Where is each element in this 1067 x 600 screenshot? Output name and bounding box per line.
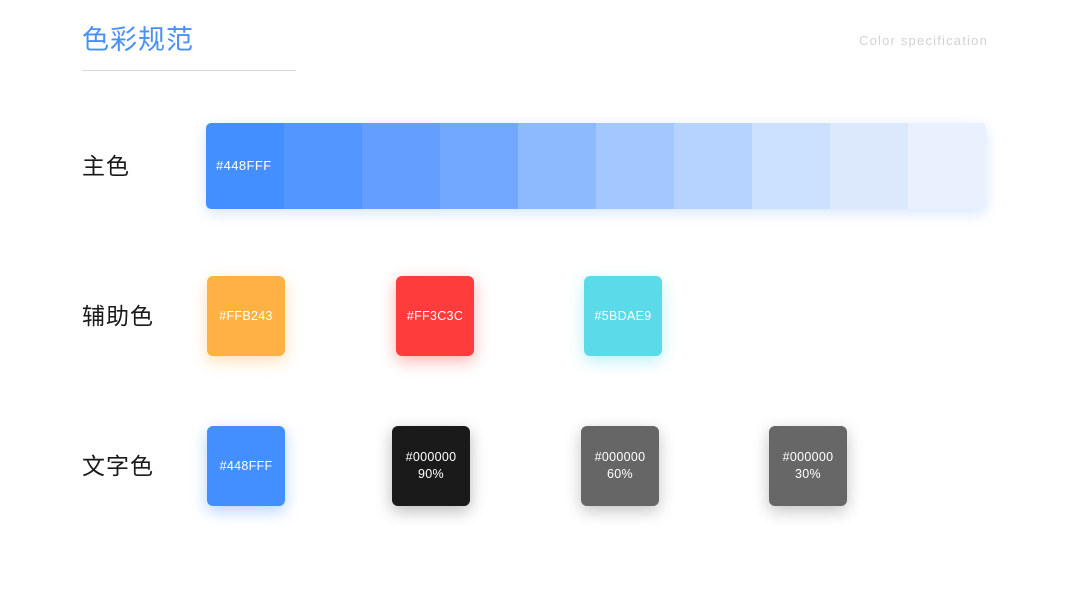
- auxiliary-swatch-strip: #FFB243#FF3C3C#5BDAE9: [0, 273, 1067, 359]
- gradient-segment: [752, 123, 830, 209]
- page-header: 色彩规范 Color specification: [82, 22, 988, 78]
- gradient-segment: [284, 123, 362, 209]
- text-swatch-strip: #448FFF#00000090%#00000060%#00000030%: [0, 423, 1067, 509]
- gradient-segment: [830, 123, 908, 209]
- swatch-opacity-label: 60%: [607, 466, 633, 483]
- swatch-hex-label: #000000: [783, 449, 834, 466]
- gradient-segment: [596, 123, 674, 209]
- swatch-opacity-label: 90%: [418, 466, 444, 483]
- swatch-hex-label: #000000: [406, 449, 457, 466]
- auxiliary-color-swatch: #FF3C3C: [396, 276, 474, 356]
- gradient-segment: [674, 123, 752, 209]
- text-color-swatch: #00000030%: [769, 426, 847, 506]
- row-label-primary: 主色: [82, 150, 130, 182]
- row-primary-color: 主色 #448FFF: [0, 123, 1067, 209]
- swatch-hex-label: #448FFF: [220, 458, 273, 475]
- auxiliary-color-swatch: #FFB243: [207, 276, 285, 356]
- row-text-color: 文字色 #448FFF#00000090%#00000060%#00000030…: [0, 423, 1067, 509]
- auxiliary-color-swatch: #5BDAE9: [584, 276, 662, 356]
- color-specification-page: 色彩规范 Color specification 主色 #448FFF 辅助色 …: [0, 0, 1067, 600]
- swatch-hex-label: #FFB243: [219, 308, 273, 325]
- gradient-segment-label: #448FFF: [216, 157, 272, 175]
- swatch-hex-label: #FF3C3C: [407, 308, 463, 325]
- gradient-segment: [518, 123, 596, 209]
- page-subtitle: Color specification: [859, 31, 988, 51]
- title-underline: [82, 70, 296, 71]
- gradient-segment: [440, 123, 518, 209]
- gradient-segment: [908, 123, 986, 209]
- primary-gradient-bar: #448FFF: [206, 123, 986, 209]
- gradient-segment: #448FFF: [206, 123, 284, 209]
- text-color-swatch: #00000060%: [581, 426, 659, 506]
- swatch-hex-label: #000000: [595, 449, 646, 466]
- gradient-segment: [362, 123, 440, 209]
- swatch-hex-label: #5BDAE9: [595, 308, 652, 325]
- swatch-opacity-label: 30%: [795, 466, 821, 483]
- text-color-swatch: #00000090%: [392, 426, 470, 506]
- row-auxiliary-color: 辅助色 #FFB243#FF3C3C#5BDAE9: [0, 273, 1067, 359]
- text-color-swatch: #448FFF: [207, 426, 285, 506]
- page-title: 色彩规范: [82, 22, 194, 58]
